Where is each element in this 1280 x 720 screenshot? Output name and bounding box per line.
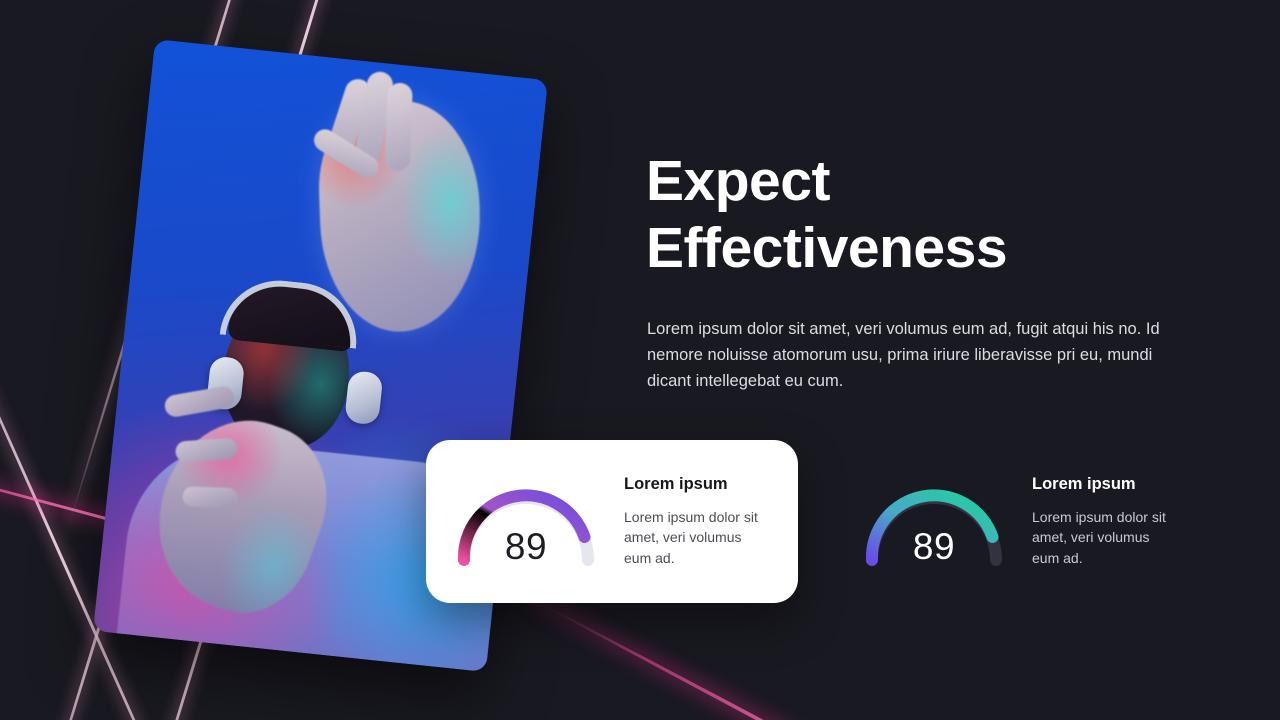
gauge-dark-value: 89 <box>858 526 1010 568</box>
stat-light-title: Lorem ipsum <box>624 475 798 494</box>
gauge-dark: 89 <box>858 472 1010 572</box>
stat-dark-text: Lorem ipsum Lorem ipsum dolor sit amet, … <box>1032 475 1206 569</box>
stat-card-light[interactable]: 89 Lorem ipsum Lorem ipsum dolor sit ame… <box>426 440 798 603</box>
stat-light-description: Lorem ipsum dolor sit amet, veri volumus… <box>624 507 772 569</box>
body-paragraph: Lorem ipsum dolor sit amet, veri volumus… <box>647 316 1180 394</box>
stat-light-text: Lorem ipsum Lorem ipsum dolor sit amet, … <box>624 475 798 569</box>
photo-finger-lower-2 <box>175 437 238 462</box>
stat-dark-title: Lorem ipsum <box>1032 475 1206 494</box>
slide-root: Expect Effectiveness Lorem ipsum dolor s… <box>0 0 1280 720</box>
photo-finger-lower-3 <box>182 487 238 509</box>
stat-card-dark[interactable]: 89 Lorem ipsum Lorem ipsum dolor sit ame… <box>834 440 1206 603</box>
gauge-light-value: 89 <box>450 526 602 568</box>
photo-finger-lower-1 <box>164 385 237 419</box>
laser-beam-pink-2 <box>528 595 1236 720</box>
gauge-light: 89 <box>450 472 602 572</box>
headline-line-1: Expect <box>646 149 830 213</box>
headphones-cup-right <box>344 371 383 426</box>
stat-dark-description: Lorem ipsum dolor sit amet, veri volumus… <box>1032 507 1180 569</box>
headline-line-2: Effectiveness <box>646 216 1007 280</box>
page-title: Expect Effectiveness <box>646 148 1206 283</box>
photo-finger-3 <box>385 82 413 171</box>
